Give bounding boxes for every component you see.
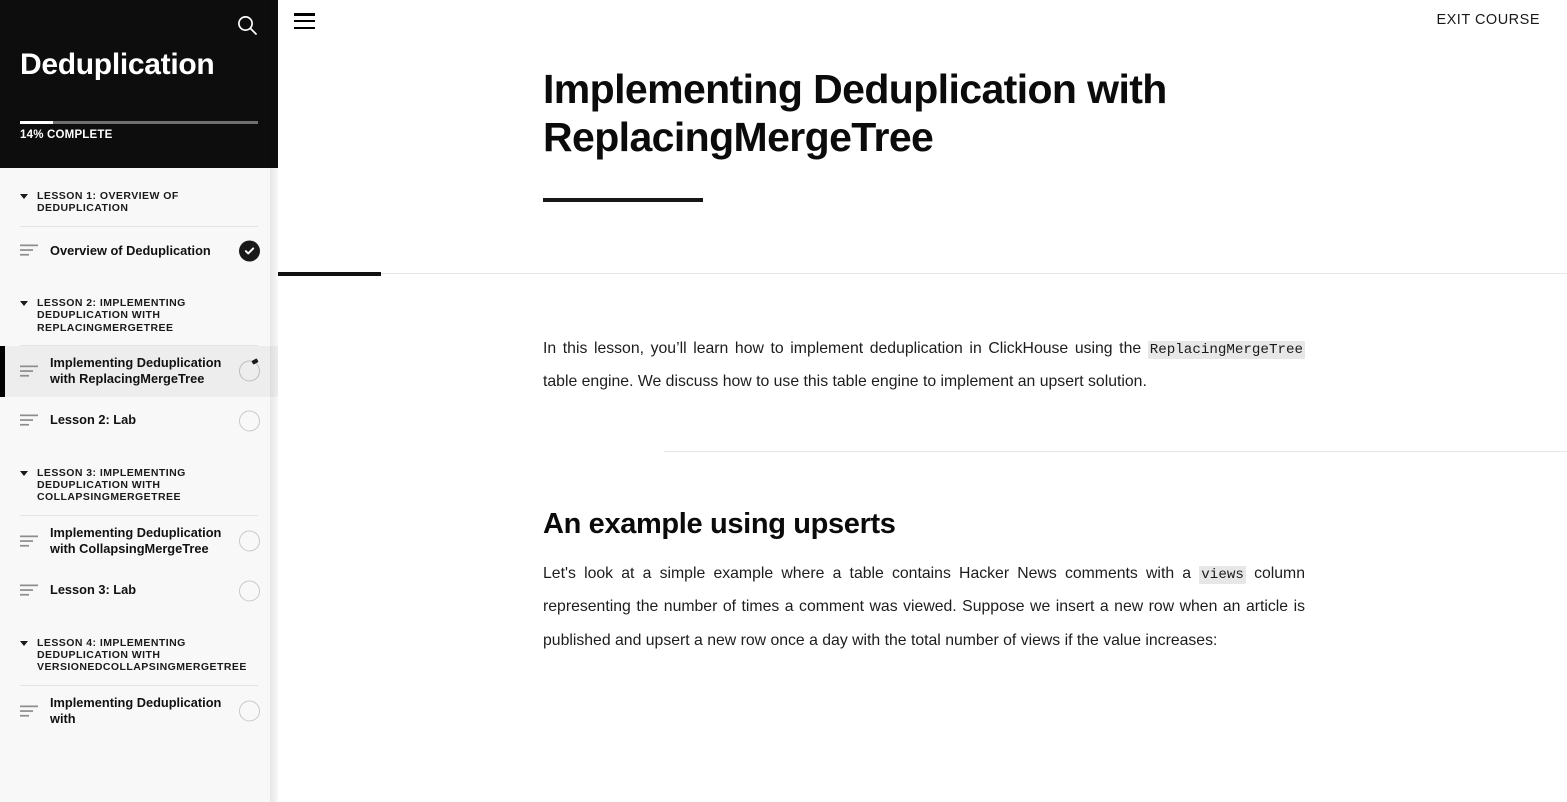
hamburger-line (294, 20, 315, 23)
hamburger-line (294, 13, 315, 16)
caret-down-icon[interactable] (20, 470, 29, 479)
lesson-section-label: LESSON 1: OVERVIEW OF DEDUPLICATION (37, 190, 237, 215)
course-progress-label: 14% COMPLETE (20, 129, 113, 141)
lesson-section-label: LESSON 4: IMPLEMENTING DEDUPLICATION WIT… (37, 637, 237, 674)
progress-ring-icon (239, 361, 260, 382)
intro-paragraph: In this lesson, you’ll learn how to impl… (543, 274, 1305, 399)
sidebar-topic-label: Implementing Deduplication with (50, 695, 235, 728)
article-body: In this lesson, you’ll learn how to impl… (278, 274, 1567, 657)
lesson-section-header[interactable]: LESSON 3: IMPLEMENTING DEDUPLICATION WIT… (0, 445, 278, 504)
topic-lines-icon (20, 244, 50, 257)
intro-text-part2: table engine. We discuss how to use this… (543, 373, 1147, 390)
exit-course-button[interactable]: EXIT COURSE (1436, 12, 1540, 28)
empty-circle-icon (239, 701, 260, 722)
empty-circle-icon (239, 531, 260, 552)
status-badge-incomplete[interactable] (239, 410, 260, 431)
caret-down-icon[interactable] (20, 193, 29, 202)
section-heading: An example using upserts (543, 452, 1567, 541)
course-player: Deduplication 14% COMPLETE LESSON 1: OVE… (0, 0, 1567, 802)
topic-lines-icon (20, 535, 50, 548)
lesson-section-label: LESSON 2: IMPLEMENTING DEDUPLICATION WIT… (37, 297, 237, 334)
intro-text-part1: In this lesson, you’ll learn how to impl… (543, 340, 1148, 357)
status-badge-in-progress[interactable] (239, 361, 260, 382)
lesson-section-header[interactable]: LESSON 2: IMPLEMENTING DEDUPLICATION WIT… (0, 275, 278, 334)
sidebar-topic-label: Lesson 3: Lab (50, 582, 136, 598)
status-badge-incomplete[interactable] (239, 531, 260, 552)
sidebar-header: Deduplication 14% COMPLETE (0, 0, 278, 168)
check-icon (239, 240, 260, 261)
top-bar: EXIT COURSE (278, 0, 1567, 46)
section-text-part1: Let's look at a simple example where a t… (543, 565, 1199, 582)
sidebar-topic-1-1[interactable]: Overview of Deduplication (0, 227, 278, 275)
sidebar-topic-label: Implementing Deduplication with Replacin… (50, 355, 235, 388)
topic-lines-icon (20, 584, 50, 597)
status-badge-incomplete[interactable] (239, 701, 260, 722)
page-title: Implementing Deduplication with Replacin… (278, 46, 1278, 162)
sidebar-topic-4-1[interactable]: Implementing Deduplication with (0, 686, 278, 737)
topic-lines-icon (20, 365, 50, 378)
lesson-list[interactable]: LESSON 1: OVERVIEW OF DEDUPLICATIONOverv… (0, 168, 278, 802)
sidebar-topic-3-2[interactable]: Lesson 3: Lab (0, 567, 278, 615)
sidebar-topic-label: Lesson 2: Lab (50, 412, 136, 428)
empty-circle-icon (239, 580, 260, 601)
sidebar-topic-3-1[interactable]: Implementing Deduplication with Collapsi… (0, 516, 278, 567)
course-progress-fill (20, 121, 53, 124)
inline-code-replacingmergetree: ReplacingMergeTree (1148, 341, 1305, 359)
sidebar-topic-label: Overview of Deduplication (50, 243, 211, 259)
topic-lines-icon (20, 705, 50, 718)
lesson-section-label: LESSON 3: IMPLEMENTING DEDUPLICATION WIT… (37, 467, 237, 504)
course-sidebar: Deduplication 14% COMPLETE LESSON 1: OVE… (0, 0, 278, 802)
status-badge-incomplete[interactable] (239, 580, 260, 601)
lesson-section-header[interactable]: LESSON 1: OVERVIEW OF DEDUPLICATION (0, 168, 278, 215)
section-paragraph: Let's look at a simple example where a t… (543, 541, 1305, 657)
caret-down-icon[interactable] (20, 640, 29, 649)
inline-code-views: views (1199, 566, 1246, 584)
empty-circle-icon (239, 410, 260, 431)
hamburger-line (294, 27, 315, 30)
lesson-section-header[interactable]: LESSON 4: IMPLEMENTING DEDUPLICATION WIT… (0, 615, 278, 674)
sidebar-topic-2-1[interactable]: Implementing Deduplication with Replacin… (0, 346, 278, 397)
status-badge-complete[interactable] (239, 240, 260, 261)
topic-lines-icon (20, 414, 50, 427)
search-icon[interactable] (234, 12, 260, 38)
caret-down-icon[interactable] (20, 300, 29, 309)
course-title: Deduplication (20, 48, 214, 81)
sidebar-topic-label: Implementing Deduplication with Collapsi… (50, 525, 235, 558)
sidebar-topic-2-2[interactable]: Lesson 2: Lab (0, 397, 278, 445)
title-underline (543, 198, 703, 202)
hamburger-menu-icon[interactable] (294, 13, 315, 29)
lesson-content: Implementing Deduplication with Replacin… (278, 46, 1567, 802)
course-progress-bar (20, 121, 258, 124)
